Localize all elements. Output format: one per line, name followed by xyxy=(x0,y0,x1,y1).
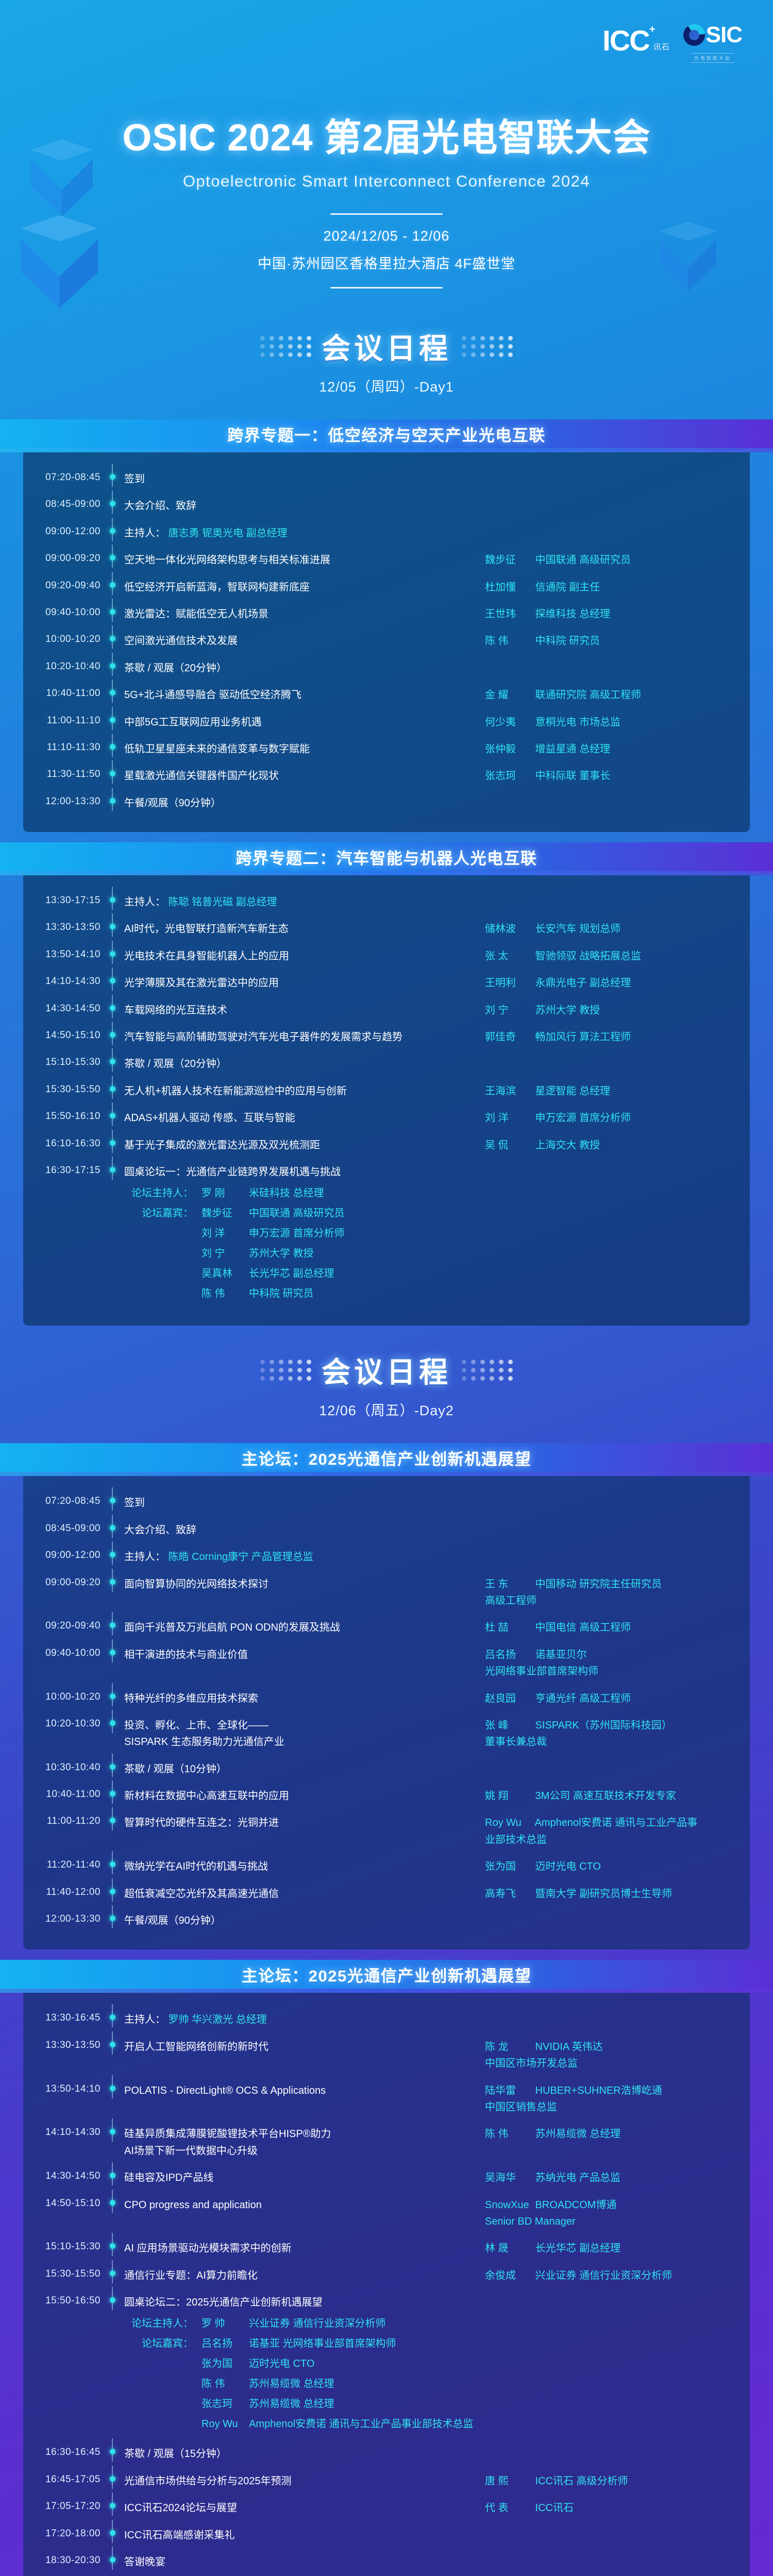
timeline-dot-icon xyxy=(110,951,115,957)
dot-grid-icon xyxy=(462,336,513,357)
row-time: 07:20-08:45 xyxy=(23,471,100,483)
timeline-axis xyxy=(100,1137,124,1146)
row-topic: 硅基异质集成薄膜铌酸锂技术平台HISP®助力AI场景下新一代数据中心升级 xyxy=(124,2126,485,2159)
timeline-axis xyxy=(100,2126,124,2134)
row-time: 09:00-12:00 xyxy=(23,525,100,537)
agenda-row: 11:00-11:20智算时代的硬件互连之：光铜并进Roy Wu Ampheno… xyxy=(23,1809,750,1853)
row-topic: CPO progress and application xyxy=(124,2197,485,2213)
timeline-dot-icon xyxy=(110,1720,115,1726)
timeline-axis xyxy=(100,1815,124,1823)
timeline-axis xyxy=(100,2011,124,2020)
row-speaker: 王 东 中国移动 研究院主任研究员高级工程师 xyxy=(485,1576,707,1609)
row-speaker: 郭佳奇 畅加风行 算法工程师 xyxy=(485,1029,707,1045)
page-title: OSIC 2024 第2届光电智联大会 xyxy=(0,107,773,162)
agenda-row: 15:10-15:30AI 应用场景驱动光模块需求中的创新林 晟 长光华芯 副总… xyxy=(23,2235,750,2262)
timeline-dot-icon xyxy=(110,1764,115,1770)
row-topic: 通信行业专题：AI算力前瞻化 xyxy=(124,2267,485,2284)
day-banner: 会议日程12/06（周五）-Day2 xyxy=(0,1326,773,1433)
timeline-axis xyxy=(100,1110,124,1118)
row-time: 12:00-13:30 xyxy=(23,795,100,807)
timeline-axis xyxy=(100,2267,124,2276)
timeline-dot-icon xyxy=(110,924,115,929)
row-topic: 投资、孵化、上市、全球化——SISPARK 生态服务助力光通信产业 xyxy=(124,1717,485,1751)
panel-details: 论坛主持人：罗 刚米硅科技 总经理论坛嘉宾：魏步征中国联通 高级研究员刘 洋申万… xyxy=(124,1180,478,1305)
agenda-row: 10:20-10:40茶歇 / 观展（20分钟） xyxy=(23,655,750,682)
timeline-axis xyxy=(100,948,124,957)
timeline-dot-icon xyxy=(110,2200,115,2206)
row-time: 15:10-15:30 xyxy=(23,2240,100,2252)
timeline-dot-icon xyxy=(110,1693,115,1699)
timeline-dot-icon xyxy=(110,636,115,641)
row-topic: 大会介绍、致辞 xyxy=(124,1522,485,1538)
session-header-title: 跨界专题二：汽车智能与机器人光电互联 xyxy=(236,845,537,869)
session-header: 跨界专题一：低空经济与空天产业光电互联 xyxy=(0,419,773,452)
agenda-row: 15:10-15:30茶歇 / 观展（20分钟） xyxy=(23,1050,750,1077)
timeline-axis xyxy=(100,2527,124,2536)
panel-guest: Roy WuAmphenol安费诺 通讯与工业产品事业部技术总监 xyxy=(124,2414,478,2434)
row-topic: ICC讯石2024论坛与展望 xyxy=(124,2500,485,2516)
agenda-row: 14:30-14:50硅电容及IPD产品线吴海华 苏纳光电 产品总监 xyxy=(23,2164,750,2191)
day-banner-title: 会议日程 xyxy=(322,1349,451,1391)
timeline-dot-icon xyxy=(110,1005,115,1011)
session-header: 跨界专题二：汽车智能与机器人光电互联 xyxy=(0,842,773,875)
icc-logo-plus: + xyxy=(649,24,654,35)
timeline-dot-icon xyxy=(110,2173,115,2178)
hero-section: ICC+ 讯石 SIC 光电智联大会 OSIC 2024 第2届光电智联大会 O… xyxy=(0,0,773,302)
row-speaker: 张 峰 SISPARK（苏州国际科技园）董事长兼总裁 xyxy=(485,1717,707,1751)
row-speaker: 张为国 迈时光电 CTO xyxy=(485,1858,707,1875)
agenda-row: 14:50-15:10汽车智能与高阶辅助驾驶对汽车光电子器件的发展需求与趋势郭佳… xyxy=(23,1024,750,1050)
timeline-axis xyxy=(100,606,124,615)
row-time: 07:20-08:45 xyxy=(23,1495,100,1507)
row-time: 10:40-11:00 xyxy=(23,1788,100,1800)
timeline-axis xyxy=(100,1029,124,1038)
row-topic: 5G+北斗通感导融合 驱动低空经济腾飞 xyxy=(124,687,485,703)
row-time: 10:00-10:20 xyxy=(23,633,100,645)
row-topic: 午餐/观展（90分钟） xyxy=(124,1912,485,1929)
row-time: 15:10-15:30 xyxy=(23,1056,100,1068)
timeline-dot-icon xyxy=(110,555,115,561)
row-time: 08:45-09:00 xyxy=(23,498,100,510)
timeline-axis xyxy=(100,1912,124,1921)
agenda-row: 09:00-09:20空天地一体化光网络架构思考与相关标准进展魏步征 中国联通 … xyxy=(23,547,750,573)
timeline-dot-icon xyxy=(110,1791,115,1797)
agenda-table: 13:30-17:15主持人： 陈聪 铭普光磁 副总经理13:30-13:50A… xyxy=(23,875,750,1326)
row-topic: 激光雷达：赋能低空无人机场景 xyxy=(124,606,485,622)
row-speaker: 陈 伟 苏州易缆微 总经理 xyxy=(485,2126,707,2142)
row-time: 16:45-17:05 xyxy=(23,2473,100,2485)
row-topic: 茶歇 / 观展（20分钟） xyxy=(124,660,485,676)
row-speaker: 张 太 智驰领驭 战略拓展总监 xyxy=(485,948,707,964)
row-time: 09:20-09:40 xyxy=(23,579,100,591)
row-topic: 硅电容及IPD产品线 xyxy=(124,2170,485,2186)
timeline-axis xyxy=(100,471,124,480)
row-topic: 光学薄膜及其在激光雷达中的应用 xyxy=(124,975,485,991)
agenda-row: 13:30-13:50AI时代，光电智联打造新汽车新生态储林波 长安汽车 规划总… xyxy=(23,916,750,942)
agenda-row: 13:30-17:15主持人： 陈聪 铭普光磁 副总经理 xyxy=(23,889,750,916)
timeline-axis xyxy=(100,1083,124,1092)
row-topic: 签到 xyxy=(124,1495,485,1511)
row-time: 14:50-15:10 xyxy=(23,1029,100,1041)
timeline-dot-icon xyxy=(110,2449,115,2454)
row-topic: 基于光子集成的激光雷达光源及双光梳测距 xyxy=(124,1137,485,1154)
timeline-dot-icon xyxy=(110,2270,115,2276)
row-time: 11:10-11:30 xyxy=(23,741,100,753)
row-time: 10:00-10:20 xyxy=(23,1690,100,1703)
timeline-axis xyxy=(100,2446,124,2454)
agenda-row: 09:20-09:40面向千兆普及万兆启航 PON ODN的发展及挑战杜 喆 中… xyxy=(23,1614,750,1641)
logo-bar: ICC+ 讯石 SIC 光电智联大会 xyxy=(0,0,773,63)
agenda-row: 09:00-12:00主持人： 唐志勇 铌奥光电 副总经理 xyxy=(23,520,750,547)
row-speaker: 唐 熙 ICC讯石 高级分析师 xyxy=(485,2473,707,2489)
row-topic: 无人机+机器人技术在新能源巡检中的应用与创新 xyxy=(124,1083,485,1099)
row-speaker: 杜 喆 中国电信 高级工程师 xyxy=(485,1619,707,1636)
row-speaker: 刘 宁 苏州大学 教授 xyxy=(485,1002,707,1019)
timeline-dot-icon xyxy=(110,2129,115,2134)
timeline-axis xyxy=(100,1647,124,1655)
row-topic: 低空经济开启新蓝海，智联网构建新底座 xyxy=(124,579,485,596)
timeline-dot-icon xyxy=(110,1818,115,1823)
timeline-axis xyxy=(100,579,124,588)
row-speaker: 刘 洋 申万宏源 首席分析师 xyxy=(485,1110,707,1126)
agenda-row: 14:50-15:10CPO progress and applicationS… xyxy=(23,2192,750,2235)
row-topic: 圆桌论坛一：光通信产业链跨界发展机遇与挑战论坛主持人：罗 刚米硅科技 总经理论坛… xyxy=(124,1164,485,1305)
row-time: 14:10-14:30 xyxy=(23,2126,100,2138)
row-time: 13:30-16:45 xyxy=(23,2011,100,2024)
day-banner-subtitle: 12/05（周四）-Day1 xyxy=(0,376,773,396)
timeline-axis xyxy=(100,975,124,984)
row-host: 主持人： 陈聪 铭普光磁 副总经理 xyxy=(124,894,485,910)
row-time: 16:30-17:15 xyxy=(23,1164,100,1176)
agenda-day: 会议日程12/06（周五）-Day2主论坛：2025光通信产业创新机遇展望07:… xyxy=(0,1326,773,2576)
panel-guest: 论坛嘉宾：吕名扬诺基亚 光网络事业部首席架构师 xyxy=(124,2334,478,2354)
row-time: 10:30-10:40 xyxy=(23,1761,100,1773)
agenda-row: 09:40-10:00激光雷达：赋能低空无人机场景王世玮 探维科技 总经理 xyxy=(23,601,750,628)
row-topic: 面向千兆普及万兆启航 PON ODN的发展及挑战 xyxy=(124,1619,485,1636)
agenda-row: 13:30-16:45主持人： 罗帅 华兴激光 总经理 xyxy=(23,2006,750,2033)
timeline-axis xyxy=(100,2473,124,2482)
row-time: 15:50-16:50 xyxy=(23,2294,100,2307)
agenda-row: 07:20-08:45签到 xyxy=(23,466,750,493)
row-topic: 茶歇 / 观展（10分钟） xyxy=(124,1761,485,1777)
row-speaker: 魏步征 中国联通 高级研究员 xyxy=(485,552,707,568)
day-banner-subtitle: 12/06（周五）-Day2 xyxy=(0,1399,773,1419)
timeline-axis xyxy=(100,660,124,669)
timeline-dot-icon xyxy=(110,1622,115,1628)
panel-guest: 陈 伟中科院 研究员 xyxy=(124,1284,478,1304)
agenda-row: 12:00-13:30午餐/观展（90分钟） xyxy=(23,1907,750,1934)
row-speaker: 王海滨 星逻智能 总经理 xyxy=(485,1083,707,1099)
row-time: 14:30-14:50 xyxy=(23,2170,100,2182)
timeline-axis xyxy=(100,525,124,534)
timeline-axis xyxy=(100,2197,124,2206)
row-speaker: 余俊成 兴业证券 通信行业资深分析师 xyxy=(485,2267,707,2284)
agenda-row: 15:50-16:50圆桌论坛二：2025光通信产业创新机遇展望论坛主持人：罗 … xyxy=(23,2289,750,2441)
event-date: 2024/12/05 - 12/06 xyxy=(0,228,773,244)
row-time: 10:20-10:40 xyxy=(23,660,100,672)
divider xyxy=(330,213,443,215)
timeline-dot-icon xyxy=(110,1552,115,1557)
agenda-row: 16:10-16:30基于光子集成的激光雷达光源及双光梳测距吴 侃 上海交大 教… xyxy=(23,1132,750,1159)
row-speaker: 陈 龙 NVIDIA 英伟达中国区市场开发总监 xyxy=(485,2039,707,2072)
row-time: 13:50-14:10 xyxy=(23,948,100,960)
row-topic: 光电技术在具身智能机器人上的应用 xyxy=(124,948,485,964)
agenda-row: 15:30-15:50无人机+机器人技术在新能源巡检中的应用与创新王海滨 星逻智… xyxy=(23,1078,750,1105)
row-topic: 大会介绍、致辞 xyxy=(124,498,485,514)
row-host: 主持人： 陈皓 Corning康宁 产品管理总监 xyxy=(124,1549,485,1565)
session-header: 主论坛：2025光通信产业创新机遇展望 xyxy=(0,1960,773,1993)
row-time: 15:30-15:50 xyxy=(23,1083,100,1095)
row-time: 11:40-12:00 xyxy=(23,1886,100,1898)
timeline-dot-icon xyxy=(110,2530,115,2536)
agenda-row: 16:45-17:05光通信市场供给与分析与2025年预测唐 熙 ICC讯石 高… xyxy=(23,2468,750,2495)
agenda-row: 10:30-10:40茶歇 / 观展（10分钟） xyxy=(23,1756,750,1783)
agenda-row: 18:30-20:30答谢晚宴 xyxy=(23,2549,750,2575)
timeline-dot-icon xyxy=(110,609,115,615)
timeline-axis xyxy=(100,2500,124,2509)
row-speaker: 张志珂 中科际联 董事长 xyxy=(485,768,707,784)
agenda-table: 07:20-08:45签到08:45-09:00大会介绍、致辞09:00-12:… xyxy=(23,452,750,832)
agenda-row: 09:00-12:00主持人： 陈皓 Corning康宁 产品管理总监 xyxy=(23,1544,750,1570)
day-banner: 会议日程12/05（周四）-Day1 xyxy=(0,302,773,409)
timeline-dot-icon xyxy=(110,2297,115,2303)
agenda-row: 09:00-09:20面向智算协同的光网络技术探讨王 东 中国移动 研究院主任研… xyxy=(23,1571,750,1615)
agenda-row: 08:45-09:00大会介绍、致辞 xyxy=(23,1517,750,1544)
panel-guest: 陈 伟苏州易缆微 总经理 xyxy=(124,2374,478,2394)
agenda-row: 14:10-14:30光学薄膜及其在激光雷达中的应用王明利 永鼎光电子 副总经理 xyxy=(23,970,750,996)
timeline-axis xyxy=(100,894,124,903)
row-time: 14:30-14:50 xyxy=(23,1002,100,1014)
timeline-dot-icon xyxy=(110,1140,115,1146)
row-time: 11:00-11:20 xyxy=(23,1815,100,1827)
day-banner-title: 会议日程 xyxy=(322,326,451,367)
row-topic: 相干演进的技术与商业价值 xyxy=(124,1647,485,1663)
timeline-dot-icon xyxy=(110,798,115,804)
agenda-row: 11:40-12:00超低衰减空芯光纤及其高速光通信高寿飞 暨南大学 副研究员博… xyxy=(23,1880,750,1907)
timeline-dot-icon xyxy=(110,717,115,723)
row-time: 10:20-10:30 xyxy=(23,1717,100,1730)
row-time: 09:00-09:20 xyxy=(23,552,100,564)
timeline-axis xyxy=(100,2554,124,2563)
row-speaker: 储林波 长安汽车 规划总师 xyxy=(485,921,707,937)
agenda-row: 09:40-10:00相干演进的技术与商业价值吕名扬 诺基亚贝尔光网络事业部首席… xyxy=(23,1641,750,1685)
timeline-axis xyxy=(100,2294,124,2303)
agenda-row: 10:40-11:00新材料在数据中心高速互联中的应用姚 翔 3M公司 高速互联… xyxy=(23,1783,750,1809)
row-topic: ADAS+机器人驱动 传感、互联与智能 xyxy=(124,1110,485,1126)
timeline-dot-icon xyxy=(110,2503,115,2509)
timeline-axis xyxy=(100,687,124,696)
timeline-dot-icon xyxy=(110,1086,115,1092)
timeline-axis xyxy=(100,921,124,929)
timeline-dot-icon xyxy=(110,2042,115,2047)
timeline-dot-icon xyxy=(110,663,115,669)
timeline-axis xyxy=(100,1549,124,1557)
agenda-row: 14:10-14:30硅基异质集成薄膜铌酸锂技术平台HISP®助力AI场景下新一… xyxy=(23,2121,750,2164)
row-speaker: 杜加懂 信通院 副主任 xyxy=(485,579,707,596)
timeline-dot-icon xyxy=(110,897,115,903)
osic-logo-text: SIC xyxy=(706,24,742,46)
row-topic: 星载激光通信关键器件国产化现状 xyxy=(124,768,485,784)
timeline-dot-icon xyxy=(110,1889,115,1894)
row-topic: AI 应用场景驱动光模块需求中的创新 xyxy=(124,2240,485,2257)
timeline-dot-icon xyxy=(110,1113,115,1118)
dot-grid-icon xyxy=(462,1360,513,1381)
agenda-row: 17:05-17:20ICC讯石2024论坛与展望代 表 ICC讯石 xyxy=(23,2495,750,2521)
osic-ring-icon xyxy=(683,24,705,46)
row-time: 09:00-12:00 xyxy=(23,1549,100,1561)
agenda-row: 10:40-11:005G+北斗通感导融合 驱动低空经济腾飞金 耀 联通研究院 … xyxy=(23,682,750,708)
row-time: 09:00-09:20 xyxy=(23,1576,100,1588)
row-speaker: 王明利 永鼎光电子 副总经理 xyxy=(485,975,707,991)
row-time: 09:40-10:00 xyxy=(23,1647,100,1659)
agenda-row: 13:50-14:10光电技术在具身智能机器人上的应用张 太 智驰领驭 战略拓展… xyxy=(23,943,750,970)
row-speaker: Roy Wu Amphenol安费诺 通讯与工业产品事业部技术总监 xyxy=(485,1815,707,1848)
agenda-row: 17:20-18:00ICC讯石高端感谢采集礼 xyxy=(23,2522,750,2549)
panel-guest: 刘 宁苏州大学 教授 xyxy=(124,1244,478,1264)
timeline-dot-icon xyxy=(110,501,115,506)
agenda-row: 12:00-13:30午餐/观展（90分钟） xyxy=(23,790,750,817)
timeline-axis xyxy=(100,1886,124,1894)
row-host: 主持人： 唐志勇 铌奥光电 副总经理 xyxy=(124,525,485,541)
row-time: 12:00-13:30 xyxy=(23,1912,100,1925)
timeline-dot-icon xyxy=(110,1861,115,1867)
conference-poster: ICC+ 讯石 SIC 光电智联大会 OSIC 2024 第2届光电智联大会 O… xyxy=(0,0,773,2576)
timeline-dot-icon xyxy=(110,1916,115,1921)
row-speaker: 吴海华 苏纳光电 产品总监 xyxy=(485,2170,707,2186)
timeline-dot-icon xyxy=(110,582,115,588)
agenda-row: 11:30-11:50星载激光通信关键器件国产化现状张志珂 中科际联 董事长 xyxy=(23,762,750,789)
timeline-axis xyxy=(100,1056,124,1064)
timeline-dot-icon xyxy=(110,1579,115,1585)
timeline-dot-icon xyxy=(110,528,115,534)
timeline-dot-icon xyxy=(110,690,115,696)
row-topic: 午餐/观展（90分钟） xyxy=(124,795,485,811)
row-time: 13:30-17:15 xyxy=(23,894,100,906)
timeline-dot-icon xyxy=(110,978,115,984)
timeline-dot-icon xyxy=(110,771,115,776)
agenda-row: 09:20-09:40低空经济开启新蓝海，智联网构建新底座杜加懂 信通院 副主任 xyxy=(23,574,750,601)
row-topic: 超低衰减空芯光纤及其高速光通信 xyxy=(124,1886,485,1902)
row-time: 15:30-15:50 xyxy=(23,2267,100,2280)
panel-guest: 张志珂苏州易缆微 总经理 xyxy=(124,2394,478,2414)
icc-logo-mark: ICC xyxy=(602,24,649,57)
row-topic: 茶歇 / 观展（15分钟） xyxy=(124,2446,485,2462)
icc-logo-cn: 讯石 xyxy=(653,41,670,55)
row-time: 14:50-15:10 xyxy=(23,2197,100,2209)
agenda-row: 10:20-10:30投资、孵化、上市、全球化——SISPARK 生态服务助力光… xyxy=(23,1712,750,1756)
panel-host: 论坛主持人：罗 刚米硅科技 总经理 xyxy=(124,1183,478,1204)
dot-grid-icon xyxy=(260,336,311,357)
page-subtitle: Optoelectronic Smart Interconnect Confer… xyxy=(0,172,773,191)
row-time: 11:30-11:50 xyxy=(23,768,100,780)
timeline-axis xyxy=(100,795,124,804)
session-header-title: 跨界专题一：低空经济与空天产业光电互联 xyxy=(227,422,546,446)
timeline-axis xyxy=(100,1788,124,1797)
row-time: 18:30-20:30 xyxy=(23,2554,100,2566)
panel-guest: 论坛嘉宾：魏步征中国联通 高级研究员 xyxy=(124,1204,478,1224)
row-time: 17:05-17:20 xyxy=(23,2500,100,2512)
agenda-table: 07:20-08:45签到08:45-09:00大会介绍、致辞09:00-12:… xyxy=(23,1476,750,1950)
row-topic: 车载网络的光互连技术 xyxy=(124,1002,485,1019)
timeline-axis xyxy=(100,498,124,506)
osic-logo-sub: 光电智联大会 xyxy=(691,53,734,63)
timeline-dot-icon xyxy=(110,2086,115,2091)
row-topic: 特种光纤的多维应用技术探索 xyxy=(124,1690,485,1707)
agenda-row: 13:30-13:50开启人工智能网络创新的新时代陈 龙 NVIDIA 英伟达中… xyxy=(23,2033,750,2077)
row-topic: 中部5G工互联网应用业务机遇 xyxy=(124,714,485,731)
row-time: 13:30-13:50 xyxy=(23,921,100,933)
agenda-row: 11:00-11:10中部5G工互联网应用业务机遇何少夷 意桐光电 市场总监 xyxy=(23,709,750,736)
timeline-axis xyxy=(100,1002,124,1011)
row-speaker: 金 耀 联通研究院 高级工程师 xyxy=(485,687,707,703)
row-topic: 空天地一体化光网络架构思考与相关标准进展 xyxy=(124,552,485,568)
panel-guest: 张为国迈时光电 CTO xyxy=(124,2354,478,2374)
row-topic: 光通信市场供给与分析与2025年预测 xyxy=(124,2473,485,2489)
panel-guest: 吴真林长光华芯 副总经理 xyxy=(124,1264,478,1284)
row-time: 13:50-14:10 xyxy=(23,2082,100,2095)
timeline-axis xyxy=(100,1164,124,1173)
row-speaker: SnowXue BROADCOM博通Senior BD Manager xyxy=(485,2197,707,2230)
timeline-axis xyxy=(100,1690,124,1699)
agenda-row: 11:10-11:30低轨卫星星座未来的通信变革与数字赋能张仲毅 增益星通 总经… xyxy=(23,736,750,762)
timeline-dot-icon xyxy=(110,2557,115,2563)
row-topic: ICC讯石高端感谢采集礼 xyxy=(124,2527,485,2544)
timeline-axis xyxy=(100,768,124,776)
agenda-day: 会议日程12/05（周四）-Day1跨界专题一：低空经济与空天产业光电互联07:… xyxy=(0,302,773,1326)
row-speaker: 陈 伟 中科院 研究员 xyxy=(485,633,707,649)
agenda-row: 10:00-10:20空间激光通信技术及发展陈 伟 中科院 研究员 xyxy=(23,628,750,654)
row-speaker: 高寿飞 暨南大学 副研究员博士生导师 xyxy=(485,1886,707,1902)
row-time: 16:30-16:45 xyxy=(23,2446,100,2458)
panel-guest: 刘 洋申万宏源 首席分析师 xyxy=(124,1224,478,1244)
timeline-dot-icon xyxy=(110,1650,115,1655)
row-topic: 签到 xyxy=(124,471,485,487)
agenda-row: 15:30-15:50通信行业专题：AI算力前瞻化余俊成 兴业证券 通信行业资深… xyxy=(23,2262,750,2289)
timeline-dot-icon xyxy=(110,1032,115,1038)
timeline-dot-icon xyxy=(110,2476,115,2482)
panel-host: 论坛主持人：罗 帅兴业证券 通信行业资深分析师 xyxy=(124,2314,478,2334)
row-time: 11:00-11:10 xyxy=(23,714,100,726)
row-topic: 汽车智能与高阶辅助驾驶对汽车光电子器件的发展需求与趋势 xyxy=(124,1029,485,1045)
row-speaker: 姚 翔 3M公司 高速互联技术开发专家 xyxy=(485,1788,707,1804)
timeline-axis xyxy=(100,2240,124,2249)
timeline-axis xyxy=(100,2039,124,2047)
row-topic: 微纳光学在AI时代的机遇与挑战 xyxy=(124,1858,485,1875)
session-header-title: 主论坛：2025光通信产业创新机遇展望 xyxy=(242,1963,531,1986)
timeline-axis xyxy=(100,1717,124,1726)
row-speaker: 赵良园 亨通光纤 高级工程师 xyxy=(485,1690,707,1707)
timeline-dot-icon xyxy=(110,2014,115,2020)
timeline-axis xyxy=(100,1522,124,1531)
row-topic: 面向智算协同的光网络技术探讨 xyxy=(124,1576,485,1592)
row-speaker: 林 晟 长光华芯 副总经理 xyxy=(485,2240,707,2257)
row-time: 13:30-13:50 xyxy=(23,2039,100,2051)
timeline-axis xyxy=(100,1858,124,1867)
timeline-axis xyxy=(100,1761,124,1770)
row-topic: 智算时代的硬件互连之：光铜并进 xyxy=(124,1815,485,1831)
row-time: 14:10-14:30 xyxy=(23,975,100,987)
row-topic: AI时代，光电智联打造新汽车新生态 xyxy=(124,921,485,937)
timeline-axis xyxy=(100,633,124,641)
agenda-row: 15:50-16:10ADAS+机器人驱动 传感、互联与智能刘 洋 申万宏源 首… xyxy=(23,1105,750,1131)
timeline-dot-icon xyxy=(110,2243,115,2249)
timeline-dot-icon xyxy=(110,1525,115,1531)
row-topic: 开启人工智能网络创新的新时代 xyxy=(124,2039,485,2055)
row-time: 08:45-09:00 xyxy=(23,1522,100,1534)
row-speaker: 吴 侃 上海交大 教授 xyxy=(485,1137,707,1154)
row-speaker: 陆华雷 HUBER+SUHNER浩博屹通中国区销售总监 xyxy=(485,2082,707,2116)
row-topic: 新材料在数据中心高速互联中的应用 xyxy=(124,1788,485,1804)
